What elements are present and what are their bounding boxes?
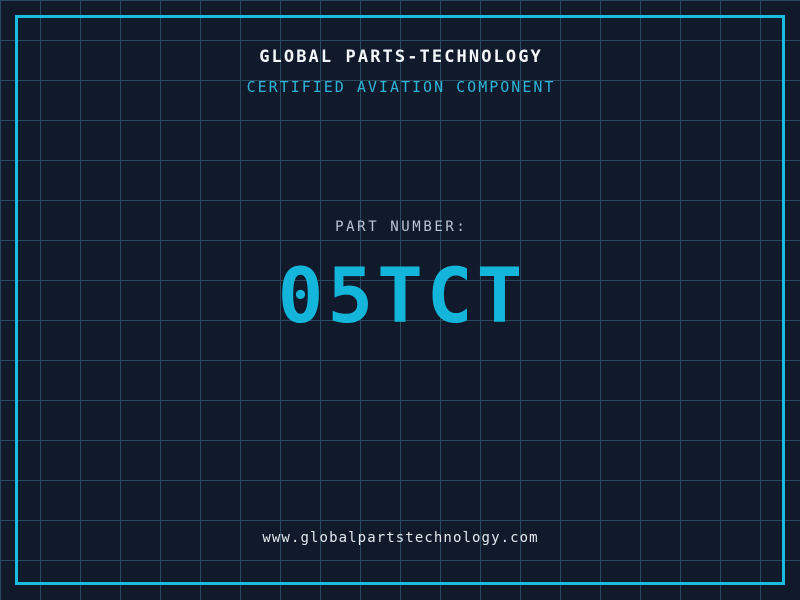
website-url: www.globalpartstechnology.com [0, 531, 800, 545]
part-number-label: PART NUMBER: [0, 220, 800, 234]
company-name: GLOBAL PARTS-TECHNOLOGY [0, 49, 800, 66]
card-content: GLOBAL PARTS-TECHNOLOGY CERTIFIED AVIATI… [0, 0, 800, 600]
certification-line: CERTIFIED AVIATION COMPONENT [0, 80, 800, 95]
part-number-card: GLOBAL PARTS-TECHNOLOGY CERTIFIED AVIATI… [0, 0, 800, 600]
part-number-value: 05TCT [0, 258, 800, 334]
